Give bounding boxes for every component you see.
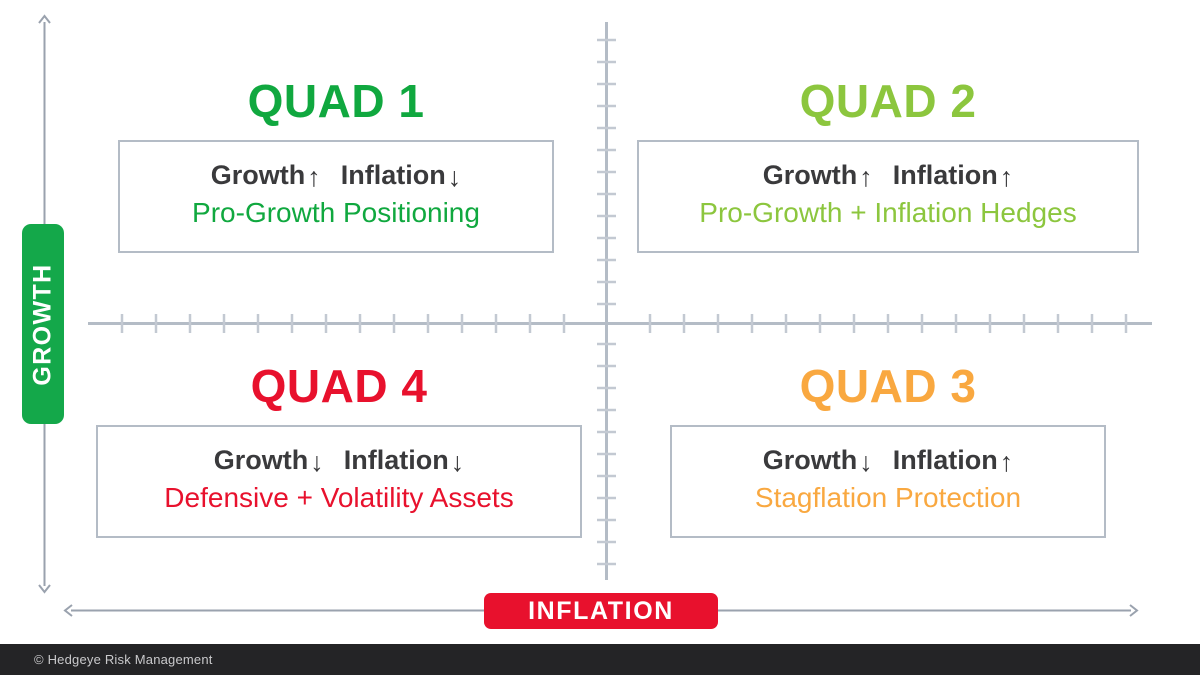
quadrant-positioning: Pro-Growth Positioning (192, 195, 480, 230)
inflation-up-arrow-icon: ↑ (1000, 161, 1014, 195)
quadrant-positioning: Stagflation Protection (755, 480, 1021, 515)
quadrant-title: QUAD 3 (800, 363, 977, 409)
growth-metric-label: Growth (763, 444, 858, 478)
inflation-metric: Inflation ↑ (893, 444, 1013, 478)
growth-metric-label: Growth (214, 444, 309, 478)
quadrant-title: QUAD 4 (251, 363, 428, 409)
quadrant-quad-3: QUAD 3 Growth ↓ Inflation ↑ Stagflation … (670, 363, 1106, 538)
quadrant-positioning: Defensive + Volatility Assets (164, 480, 513, 515)
inflation-axis-label-text: INFLATION (528, 597, 674, 626)
inflation-down-arrow-icon: ↓ (451, 446, 465, 480)
quadrant-detail-box: Growth ↓ Inflation ↑ Stagflation Protect… (670, 425, 1106, 538)
inflation-metric: Inflation ↓ (344, 444, 464, 478)
growth-down-arrow-icon: ↓ (859, 446, 873, 480)
inflation-axis-label: INFLATION (484, 593, 718, 629)
copyright-text: © Hedgeye Risk Management (0, 652, 213, 667)
quadrant-quad-4: QUAD 4 Growth ↓ Inflation ↓ Defensive + … (96, 363, 582, 538)
quadrant-detail-box: Growth ↓ Inflation ↓ Defensive + Volatil… (96, 425, 582, 538)
quadrant-metrics: Growth ↑ Inflation ↓ (211, 159, 461, 193)
growth-down-arrow-icon: ↓ (310, 446, 324, 480)
inflation-metric: Inflation ↑ (893, 159, 1013, 193)
growth-metric: Growth ↓ (214, 444, 324, 478)
quadrant-metrics: Growth ↑ Inflation ↑ (763, 159, 1013, 193)
quadrant-positioning: Pro-Growth + Inflation Hedges (699, 195, 1076, 230)
quadrant-quad-1: QUAD 1 Growth ↑ Inflation ↓ Pro-Growth P… (118, 78, 554, 253)
footer-bar: © Hedgeye Risk Management (0, 644, 1200, 675)
quadrant-detail-box: Growth ↑ Inflation ↓ Pro-Growth Position… (118, 140, 554, 253)
growth-metric: Growth ↑ (763, 159, 873, 193)
inflation-metric-label: Inflation (893, 444, 998, 478)
growth-axis-label: GROWTH (22, 224, 64, 424)
growth-axis-label-text: GROWTH (29, 263, 58, 385)
inflation-down-arrow-icon: ↓ (448, 161, 462, 195)
growth-metric-label: Growth (763, 159, 858, 193)
growth-up-arrow-icon: ↑ (859, 161, 873, 195)
growth-metric: Growth ↑ (211, 159, 321, 193)
quadrant-title: QUAD 1 (248, 78, 425, 124)
inflation-metric-label: Inflation (344, 444, 449, 478)
growth-metric: Growth ↓ (763, 444, 873, 478)
inflation-metric-label: Inflation (893, 159, 998, 193)
quadrant-detail-box: Growth ↑ Inflation ↑ Pro-Growth + Inflat… (637, 140, 1139, 253)
growth-metric-label: Growth (211, 159, 306, 193)
inflation-metric-label: Inflation (341, 159, 446, 193)
quadrant-quad-2: QUAD 2 Growth ↑ Inflation ↑ Pro-Growth +… (637, 78, 1139, 253)
quadrant-metrics: Growth ↓ Inflation ↓ (214, 444, 464, 478)
quadrant-metrics: Growth ↓ Inflation ↑ (763, 444, 1013, 478)
quad-model-chart: GROWTH INFLATION QUAD 1 Growth ↑ Inflati… (0, 0, 1200, 675)
inflation-up-arrow-icon: ↑ (1000, 446, 1014, 480)
inflation-metric: Inflation ↓ (341, 159, 461, 193)
growth-up-arrow-icon: ↑ (307, 161, 321, 195)
quadrant-title: QUAD 2 (800, 78, 977, 124)
